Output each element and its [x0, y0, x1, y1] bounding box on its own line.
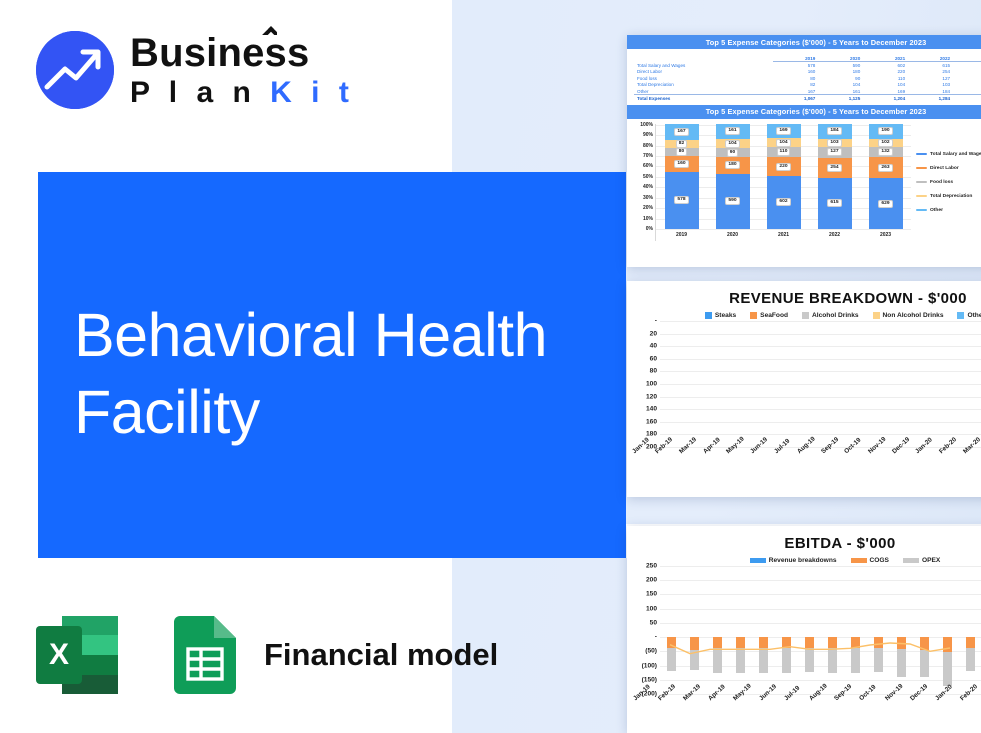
bar-value-label: 80: [676, 148, 687, 156]
bar-slot[interactable]: [854, 321, 876, 447]
cell: 590: [818, 62, 863, 69]
legend-item[interactable]: Total Depreciation: [916, 194, 981, 199]
x-tick: Apr-19: [698, 447, 722, 481]
bar-value-label: 220: [776, 163, 790, 171]
bar-segment: [782, 648, 791, 673]
x-tick: Mar-20: [958, 447, 981, 481]
x-tick: Feb-20: [934, 447, 958, 481]
bar-segment: [828, 637, 837, 648]
bar-slot[interactable]: [706, 566, 729, 694]
revenue-breakdown-card[interactable]: REVENUE BREAKDOWN - $'000 SteaksSeaFoodA…: [627, 281, 981, 497]
legend-item[interactable]: COGS: [851, 557, 889, 564]
legend-item[interactable]: Steaks: [705, 312, 736, 319]
bar-slot[interactable]: [962, 321, 981, 447]
x-tick: 2020: [716, 232, 750, 238]
cell: 167: [773, 88, 818, 95]
legend-swatch: [916, 181, 927, 183]
y-tick: (100): [642, 662, 657, 669]
bar-value-label: 602: [776, 198, 790, 206]
plot-area: [660, 566, 981, 694]
cell: 615: [908, 62, 953, 69]
bar-segment: 220: [767, 157, 801, 176]
x-tick: Jan-20: [911, 447, 935, 481]
legend-swatch: [916, 209, 927, 211]
bars-group: [660, 321, 981, 447]
bar-segment: [713, 637, 722, 648]
bar-segment: 602: [767, 176, 801, 228]
revenue-chart-legend: SteaksSeaFoodAlcohol DrinksNon Alcohol D…: [627, 307, 981, 321]
bar-segment: 161: [716, 124, 750, 139]
row-label: Other: [634, 88, 773, 95]
bar-segment: 90: [716, 148, 750, 156]
x-tick: Nov-19: [879, 694, 904, 728]
x-tick: Oct-19: [840, 447, 864, 481]
y-tick: 100: [646, 381, 657, 388]
expense-100-stacked-chart: 0%10%20%30%40%50%60%70%80%90%100% 578160…: [627, 119, 981, 241]
bar-slot[interactable]: [703, 321, 725, 447]
x-tick: Oct-19: [854, 694, 879, 728]
legend-label: Total Depreciation: [930, 194, 972, 199]
bar-segment: [851, 648, 860, 673]
x-tick: Jun-19: [745, 447, 769, 481]
x-tick: Jun-19: [753, 694, 778, 728]
plot-area: 5781608082167590180901041616022201101041…: [655, 124, 911, 241]
bar-value-label: 590: [725, 197, 739, 205]
bar-segment: 104: [716, 139, 750, 149]
bar-slot[interactable]: [798, 566, 821, 694]
x-tick: May-19: [722, 447, 746, 481]
y-tick: 20: [650, 330, 657, 337]
bar-segment: [851, 637, 860, 648]
format-badge-label: Financial model: [264, 637, 498, 673]
bar-value-label: 161: [725, 127, 739, 135]
bar-slot[interactable]: [913, 566, 936, 694]
legend-item[interactable]: Alcohol Drinks: [802, 312, 859, 319]
bar-segment: 254: [818, 158, 852, 179]
stacked-bar[interactable]: 629263132102190: [869, 124, 903, 229]
bar-value-label: 82: [676, 140, 687, 148]
x-tick: 2023: [869, 232, 903, 238]
y-tick: 160: [646, 418, 657, 425]
legend-item[interactable]: Revenue breakdowns: [750, 557, 837, 564]
y-tick: 80%: [643, 143, 653, 149]
bar-segment: [966, 648, 975, 671]
x-tick: 2021: [767, 232, 801, 238]
y-tick: 100: [646, 605, 657, 612]
bar-segment: 167: [665, 124, 699, 140]
bar-value-label: 184: [827, 127, 841, 135]
brand-name-line1: Business: [130, 33, 354, 73]
ebitda-chart-body: 25020015010050-(50)(100)(150)(200): [627, 566, 981, 694]
bar-segment: 160: [665, 156, 699, 172]
col-head-2023: 2023: [953, 55, 981, 62]
bar-segment: [667, 648, 676, 671]
revenue-chart-title: REVENUE BREAKDOWN - $'000: [627, 281, 981, 307]
x-tick: Jan-20: [929, 694, 954, 728]
bar-segment: [943, 652, 952, 686]
x-tick: Mar-19: [677, 694, 702, 728]
legend-label: Alcohol Drinks: [812, 312, 859, 319]
x-tick: Jul-19: [769, 447, 793, 481]
bar-value-label: 160: [674, 160, 688, 168]
brand-name-text: Business: [130, 31, 309, 75]
bars-group: 5781608082167590180901041616022201101041…: [656, 124, 911, 229]
bar-segment: 110: [767, 147, 801, 157]
cell: 161: [818, 88, 863, 95]
bar-slot[interactable]: [683, 566, 706, 694]
bar-segment: 102: [869, 139, 903, 147]
bar-slot[interactable]: [682, 321, 704, 447]
legend-swatch: [916, 153, 927, 155]
y-tick: 250: [646, 563, 657, 570]
stacked-bar[interactable]: 615254127103184: [818, 124, 852, 229]
x-tick: Aug-19: [792, 447, 816, 481]
bar-segment: 169: [767, 124, 801, 139]
table-row: Total Salary and Wages 578 590 602 615 6…: [634, 62, 981, 69]
growth-arrow-circle-icon: [36, 31, 114, 109]
bar-slot[interactable]: [919, 321, 941, 447]
y-tick: 60: [650, 355, 657, 362]
bar-slot[interactable]: [876, 321, 898, 447]
bar-value-label: 104: [776, 139, 790, 147]
cell: 1,067: [773, 95, 818, 102]
y-tick: 10%: [643, 216, 653, 222]
y-tick: 60%: [643, 163, 653, 169]
table-row: Other 167 161 169 184 190: [634, 88, 981, 95]
col-head-2019: 2019: [773, 55, 818, 62]
bar-segment: 127: [818, 147, 852, 157]
x-tick: Sep-19: [829, 694, 854, 728]
expense-table: 2019 2020 2021 2022 2023 Total Salary an…: [634, 55, 981, 102]
legend-swatch: [750, 558, 766, 563]
x-axis-labels: 20192020202120222023: [656, 229, 911, 241]
bar-segment: [736, 637, 745, 648]
circumflex-accent-icon: [262, 24, 277, 35]
x-axis-labels: Jan-19Feb-19Mar-19Apr-19May-19Jun-19Jul-…: [627, 694, 981, 728]
bar-segment: [943, 637, 952, 652]
bar-slot[interactable]: [660, 321, 682, 447]
bar-segment: 132: [869, 147, 903, 158]
bar-segment: [759, 637, 768, 648]
x-tick: Nov-19: [863, 447, 887, 481]
stacked-bar[interactable]: 5781608082167: [665, 124, 699, 229]
x-tick: Jan-19: [627, 694, 652, 728]
col-head-2022: 2022: [908, 55, 953, 62]
bar-slot[interactable]: [746, 321, 768, 447]
x-tick: Dec-19: [904, 694, 929, 728]
bar-segment: 615: [818, 178, 852, 228]
y-axis-percent: 0%10%20%30%40%50%60%70%80%90%100%: [629, 124, 655, 241]
bar-segment: 104: [767, 138, 801, 147]
cell: 1,284: [908, 95, 953, 102]
legend-item[interactable]: Direct Labor: [916, 166, 981, 171]
cell: 629: [953, 62, 981, 69]
legend-swatch: [873, 312, 880, 319]
x-tick: Feb-20: [955, 694, 980, 728]
legend-swatch: [957, 312, 964, 319]
y-tick: 200: [646, 577, 657, 584]
format-badges: X Financial model: [36, 616, 498, 694]
x-tick: 2022: [818, 232, 852, 238]
x-tick: Feb-19: [651, 447, 675, 481]
expense-table-band-title: Top 5 Expense Categories ($'000) - 5 Yea…: [627, 35, 981, 49]
bar-value-label: 103: [827, 139, 841, 147]
plot-area: [660, 321, 981, 447]
y-tick: 50: [650, 619, 657, 626]
bar-segment: [690, 650, 699, 670]
x-tick: Sep-19: [816, 447, 840, 481]
stacked-bar[interactable]: 602220110104169: [767, 124, 801, 229]
y-tick: 70%: [643, 153, 653, 159]
ebitda-chart-legend: Revenue breakdownsCOGSOPEX: [627, 552, 981, 566]
brand-kit-text: K i t: [270, 76, 354, 109]
legend-label: SeaFood: [760, 312, 788, 319]
stacked-bar[interactable]: 59018090104161: [716, 124, 750, 229]
bar-segment: 190: [869, 124, 903, 139]
bar-value-label: 180: [725, 161, 739, 169]
legend-swatch: [851, 558, 867, 563]
x-tick: Jul-19: [778, 694, 803, 728]
bar-slot[interactable]: [821, 566, 844, 694]
bar-segment: [759, 648, 768, 673]
legend-swatch: [903, 558, 919, 563]
ebitda-chart-title: EBITDA - $'000: [627, 526, 981, 552]
bar-segment: [874, 637, 883, 648]
y-tick: 140: [646, 406, 657, 413]
google-sheets-icon: [174, 616, 236, 694]
legend-label: Non Alcohol Drinks: [883, 312, 944, 319]
brand-plan-text: P l a n: [130, 76, 256, 109]
legend-label: Other: [967, 312, 981, 319]
expense-categories-card[interactable]: Top 5 Expense Categories ($'000) - 5 Yea…: [627, 35, 981, 267]
bar-slot[interactable]: [897, 321, 919, 447]
bar-slot[interactable]: [811, 321, 833, 447]
x-tick: 2019: [665, 232, 699, 238]
y-tick: 120: [646, 393, 657, 400]
x-tick: Jan-19: [627, 447, 651, 481]
brand-logo: Business P l a n K i t: [36, 31, 354, 109]
cell: 1,125: [818, 95, 863, 102]
legend-label: Food loss: [930, 180, 953, 185]
legend-item[interactable]: Other: [957, 312, 981, 319]
col-head-label: [634, 55, 773, 62]
bar-segment: [828, 648, 837, 673]
y-axis: 25020015010050-(50)(100)(150)(200): [630, 566, 660, 694]
y-tick: -: [655, 634, 657, 641]
microsoft-excel-icon: X: [36, 616, 136, 694]
legend-item[interactable]: Food loss: [916, 180, 981, 185]
cell: 578: [773, 62, 818, 69]
bar-slot[interactable]: [936, 566, 959, 694]
bars-group: [660, 566, 981, 694]
x-tick: Aug-19: [803, 694, 828, 728]
brand-name-line2: P l a n K i t: [130, 78, 354, 108]
y-tick: 20%: [643, 205, 653, 211]
legend-swatch: [802, 312, 809, 319]
bar-segment: 103: [818, 139, 852, 147]
bar-value-label: 629: [878, 200, 892, 208]
bar-segment: 180: [716, 157, 750, 174]
slide-canvas: Business P l a n K i t Behavioral Health…: [0, 0, 981, 733]
legend-label: Direct Labor: [930, 166, 959, 171]
expense-table-wrap: 2019 2020 2021 2022 2023 Total Salary an…: [627, 49, 981, 105]
bar-segment: 184: [818, 124, 852, 139]
bar-segment: [897, 649, 906, 677]
bar-segment: 82: [665, 140, 699, 148]
legend-item[interactable]: Other: [916, 208, 981, 213]
y-tick: 80: [650, 368, 657, 375]
bar-value-label: 127: [827, 148, 841, 156]
bar-segment: [966, 637, 975, 648]
cell: 169: [863, 88, 908, 95]
bar-value-label: 254: [827, 164, 841, 172]
bar-slot[interactable]: [752, 566, 775, 694]
row-label: Total Salary and Wages: [634, 62, 773, 69]
table-header-row: 2019 2020 2021 2022 2023: [634, 55, 981, 62]
bar-segment: [690, 637, 699, 650]
bar-value-label: 104: [725, 140, 739, 148]
x-axis-labels: Jan-19Feb-19Mar-19Apr-19May-19Jun-19Jul-…: [627, 447, 981, 481]
bar-value-label: 615: [827, 199, 841, 207]
y-tick: 150: [646, 591, 657, 598]
y-tick: 180: [646, 431, 657, 438]
bar-value-label: 263: [878, 164, 892, 172]
x-tick: Feb-19: [652, 694, 677, 728]
y-tick: 0%: [646, 226, 653, 232]
y-tick: 40: [650, 343, 657, 350]
bar-segment: 80: [665, 148, 699, 156]
x-tick: Dec-19: [887, 447, 911, 481]
y-tick: 100%: [640, 122, 653, 128]
table-total-row: Total Expenses 1,067 1,125 1,204 1,284 1…: [634, 95, 981, 102]
legend-item[interactable]: OPEX: [903, 557, 940, 564]
x-tick: May-19: [728, 694, 753, 728]
legend-swatch: [750, 312, 757, 319]
legend-item[interactable]: Total Salary and Wages: [916, 152, 981, 157]
revenue-chart-body: -20406080100120140160180200: [627, 321, 981, 447]
x-tick: Mar-19: [674, 447, 698, 481]
cell: 190: [953, 88, 981, 95]
bar-segment: 629: [869, 178, 903, 228]
bar-slot[interactable]: [725, 321, 747, 447]
y-tick: 30%: [643, 195, 653, 201]
cell: 1,316: [953, 95, 981, 102]
y-tick: 40%: [643, 184, 653, 190]
legend-label: Total Salary and Wages: [930, 152, 981, 157]
bar-value-label: 167: [674, 128, 688, 136]
bar-segment: 263: [869, 157, 903, 178]
col-head-2021: 2021: [863, 55, 908, 62]
svg-text:X: X: [49, 638, 69, 671]
bar-segment: [874, 648, 883, 672]
bar-value-label: 132: [878, 148, 892, 156]
bar-segment: [667, 637, 676, 648]
cell: 1,204: [863, 95, 908, 102]
bar-segment: [713, 648, 722, 673]
legend-label: Revenue breakdowns: [769, 557, 837, 564]
bar-slot[interactable]: [660, 566, 683, 694]
bar-slot[interactable]: [890, 566, 913, 694]
col-head-2020: 2020: [818, 55, 863, 62]
chart-legend: Total Salary and WagesDirect LaborFood l…: [911, 124, 981, 241]
legend-label: Steaks: [715, 312, 736, 319]
legend-swatch: [916, 195, 927, 197]
bar-slot[interactable]: [729, 566, 752, 694]
legend-item[interactable]: Non Alcohol Drinks: [873, 312, 944, 319]
bar-slot[interactable]: [867, 566, 890, 694]
bar-slot[interactable]: [940, 321, 962, 447]
bar-value-label: 190: [878, 127, 892, 135]
legend-swatch: [705, 312, 712, 319]
legend-label: COGS: [870, 557, 889, 564]
bar-value-label: 578: [674, 196, 688, 204]
legend-label: OPEX: [922, 557, 940, 564]
bar-slot[interactable]: [844, 566, 867, 694]
bar-segment: 590: [716, 174, 750, 229]
expense-chart-band-title: Top 5 Expense Categories ($'000) - 5 Yea…: [627, 105, 981, 119]
y-tick: 90%: [643, 132, 653, 138]
y-axis: -20406080100120140160180200: [630, 321, 660, 447]
bar-value-label: 102: [878, 139, 892, 147]
bar-value-label: 90: [727, 149, 738, 157]
cell: 602: [863, 62, 908, 69]
bar-slot[interactable]: [768, 321, 790, 447]
ebitda-card[interactable]: EBITDA - $'000 Revenue breakdownsCOGSOPE…: [627, 526, 981, 733]
bar-segment: [782, 637, 791, 648]
bar-slot[interactable]: [833, 321, 855, 447]
bar-segment: [920, 637, 929, 650]
y-tick: (150): [642, 676, 657, 683]
row-label: Total Expenses: [634, 95, 773, 102]
page-title: Behavioral Health Facility: [74, 297, 594, 451]
bar-segment: [805, 637, 814, 648]
bar-slot[interactable]: [789, 321, 811, 447]
cell: 184: [908, 88, 953, 95]
bar-value-label: 110: [777, 148, 791, 156]
bar-segment: [805, 648, 814, 671]
bar-slot[interactable]: [959, 566, 981, 694]
bar-value-label: 169: [776, 127, 790, 135]
bar-segment: [920, 650, 929, 677]
y-tick: -: [655, 318, 657, 325]
y-tick: (50): [645, 648, 657, 655]
bar-segment: [736, 648, 745, 673]
legend-swatch: [916, 167, 927, 169]
bar-segment: [897, 637, 906, 649]
bar-slot[interactable]: [775, 566, 798, 694]
legend-item[interactable]: SeaFood: [750, 312, 788, 319]
x-tick: Apr-19: [703, 694, 728, 728]
y-tick: 50%: [643, 174, 653, 180]
legend-label: Other: [930, 208, 943, 213]
bar-segment: 578: [665, 172, 699, 229]
